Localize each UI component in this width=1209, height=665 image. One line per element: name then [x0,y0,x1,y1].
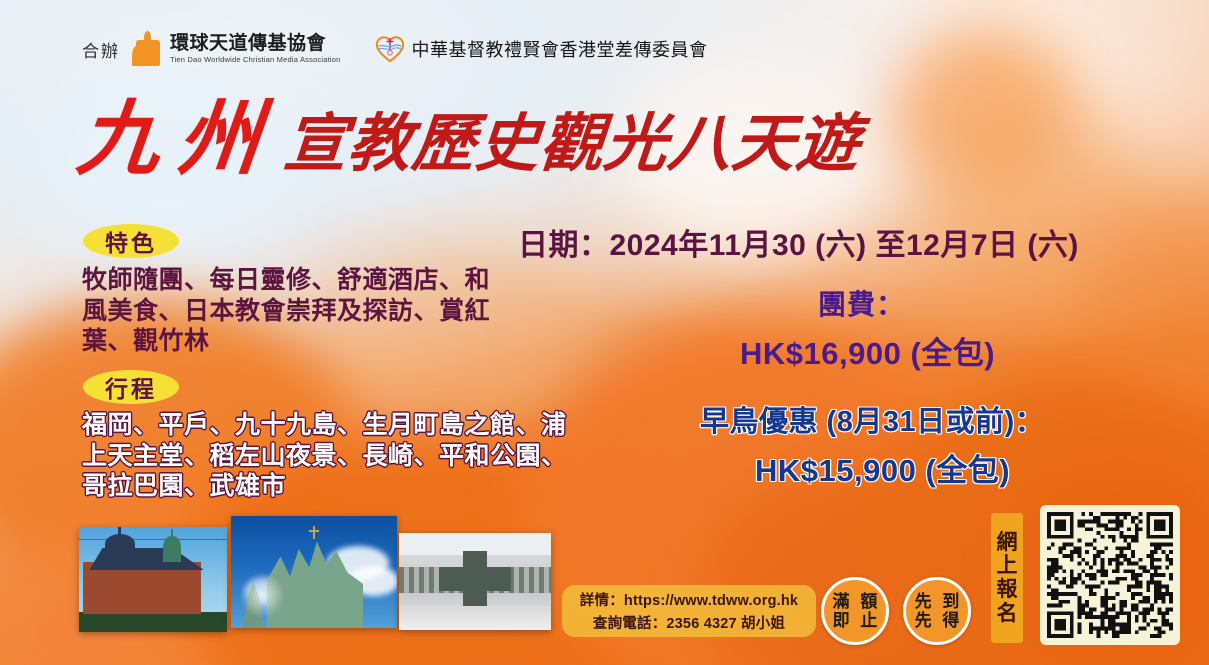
page-title: 九州 宣教歷史觀光八天遊 [78,101,860,179]
contact-website[interactable]: 詳情：https://www.tdww.org.hk [580,589,798,610]
qr-code-canvas [1047,512,1173,638]
early-bird-value: HK$15,900 (全包) [755,445,1010,490]
title-secondary: 宣教歷史觀光八天遊 [281,112,863,179]
photo-red-brick-church [79,527,227,632]
organizer-logo-rhenish: 中華基督教禮賢會香港堂差傳委員會 [375,34,708,64]
qr-label-char: 報 [997,578,1018,602]
features-text: 牧師隨團、每日靈修、舒適酒店、和風美食、日本教會崇拜及探訪、賞紅葉、觀竹林 [82,265,512,357]
early-bird-label: 早鳥優惠 (8月31日或前)： [700,398,1044,440]
org2-name-cn: 中華基督教禮賢會香港堂差傳委員會 [412,36,708,62]
tour-fee-value: HK$16,900 (全包) [740,328,995,373]
first-come-line2: 先 得 [912,611,963,630]
contact-phone: 查詢電話：2356 4327 胡小姐 [593,612,785,633]
full-quota-line1: 滿 額 [830,592,881,611]
organizer-logo-tiendao: 環球天道傳基協會 Tien Dao Worldwide Christian Me… [132,32,341,66]
itinerary-text: 福岡、平戶、九十九島、生月町島之館、浦上天主堂、稻左山夜景、長崎、平和公園、哥拉… [82,410,567,502]
tour-date: 日期：2024年11月30 (六) 至12月7日 (六) [518,220,1079,264]
first-come-line1: 先 到 [912,592,963,611]
title-primary: 九州 [74,101,282,179]
organizer-header: 合辦 環球天道傳基協會 Tien Dao Worldwide Christian… [82,32,708,66]
promotional-poster: 合辦 環球天道傳基協會 Tien Dao Worldwide Christian… [0,0,1209,665]
photo-memorial-cross-building [399,533,551,630]
photo-green-gothic-cathedral [231,516,397,628]
org1-name-cn: 環球天道傳基協會 [170,34,341,53]
heart-cross-icon [375,34,405,64]
cohost-label: 合辦 [82,37,120,62]
tour-fee-label: 團費： [818,283,905,323]
qr-label-char: 網 [997,531,1018,555]
full-quota-line2: 即 止 [830,611,881,630]
full-quota-badge: 滿 額 即 止 [821,577,889,645]
qr-label-char: 名 [997,602,1018,626]
first-come-badge: 先 到 先 得 [903,577,971,645]
candle-flame-icon [132,32,162,66]
qr-code[interactable] [1040,505,1180,645]
org1-name-en: Tien Dao Worldwide Christian Media Assoc… [170,56,341,64]
itinerary-badge: 行程 [83,370,179,404]
features-badge: 特色 [83,224,179,258]
contact-info: 詳情：https://www.tdww.org.hk 查詢電話：2356 432… [562,585,816,637]
online-registration-label: 網 上 報 名 [991,513,1023,643]
qr-label-char: 上 [997,554,1018,578]
